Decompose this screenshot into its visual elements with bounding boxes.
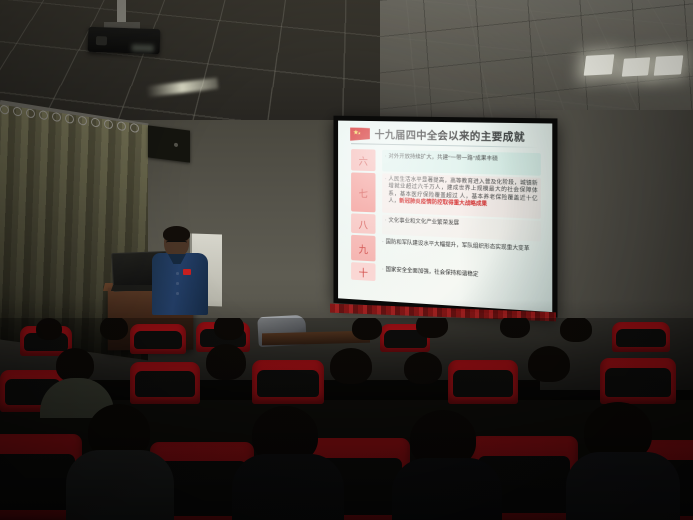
- slide-row: 七 · 人民生活水平显著提高，高等教育进入普及化阶段，城镇新增就业超过六千万人，…: [351, 172, 541, 218]
- curtain-ring: [26, 108, 35, 118]
- bullet-icon: ·: [385, 176, 387, 184]
- row-text: 文化事业和文化产业繁荣发展: [388, 218, 537, 232]
- curtain-ring: [52, 112, 61, 122]
- slide-row: 六 · 对外开放持续扩大，共建“一带一路”成果丰硕: [351, 149, 541, 176]
- seat-sheen: [259, 373, 317, 377]
- row-number-chip: 六: [351, 149, 375, 171]
- audience-head: [214, 318, 244, 340]
- row-text: 人民生活水平显著提高，高等教育进入普及化阶段，城镇新增就业超过六千万人，建成世界…: [388, 176, 537, 211]
- row-number-chip: 八: [351, 213, 375, 234]
- curtain-ring: [117, 121, 126, 131]
- bullet-icon: ·: [382, 267, 384, 275]
- seat: [252, 360, 324, 404]
- seat-sheen: [0, 461, 72, 469]
- audience-head: [528, 346, 570, 382]
- curtain-ring: [78, 116, 87, 126]
- projection-screen-surface: ★ ★ 十九届四中全会以来的主要成就 六 · 对外开放持续扩大，共建“一带一路”…: [338, 121, 552, 313]
- seat: [448, 360, 518, 404]
- bullet-icon: ·: [385, 154, 387, 162]
- audience-head: [500, 318, 530, 338]
- wall-speaker-icon: [148, 125, 190, 162]
- presenter: [152, 228, 208, 314]
- presenter-badge: [183, 269, 191, 275]
- light-panel-3-icon: [654, 55, 684, 75]
- curtain-ring: [130, 123, 139, 133]
- bullet-icon: ·: [382, 239, 384, 247]
- row-body: · 人民生活水平显著提高，高等教育进入普及化阶段，城镇新增就业超过六千万人，建成…: [382, 173, 541, 219]
- seat-sheen: [618, 331, 664, 334]
- projection-screen: ★ ★ 十九届四中全会以来的主要成就 六 · 对外开放持续扩大，共建“一带一路”…: [333, 116, 557, 318]
- projector-icon: [88, 27, 161, 54]
- audience-head: [56, 348, 94, 382]
- row-number-chip: 十: [351, 262, 375, 281]
- row-body: · 对外开放持续扩大，共建“一带一路”成果丰硕: [382, 150, 541, 176]
- curtain-ring: [39, 110, 48, 120]
- row-number-chip: 七: [351, 172, 375, 212]
- seat-sheen: [608, 372, 669, 376]
- curtain-ring: [104, 119, 113, 129]
- shirt-button: [176, 282, 179, 285]
- audience-shoulders: [66, 450, 174, 520]
- audience-shoulders: [392, 458, 502, 520]
- speaker-dot: [174, 143, 178, 147]
- audience-head: [560, 318, 592, 342]
- audience-shoulders: [566, 452, 680, 520]
- seat: [130, 362, 200, 404]
- presenter-hair: [163, 226, 190, 242]
- projector-glow: [132, 44, 154, 52]
- seat-sheen: [137, 375, 193, 379]
- row-number-chip: 九: [351, 235, 375, 262]
- light-panel-1-icon: [584, 54, 615, 75]
- audience-head: [330, 348, 372, 384]
- light-panel-2-icon: [622, 57, 650, 76]
- row-text: 国防和军队建设水平大幅提升，军队组织形态实现重大变革: [386, 239, 541, 254]
- slide-content: ★ ★ 十九届四中全会以来的主要成就 六 · 对外开放持续扩大，共建“一带一路”…: [346, 127, 545, 306]
- seat-sheen: [455, 373, 511, 377]
- audience-head: [206, 344, 246, 380]
- curtain-ring: [0, 105, 9, 115]
- curtain-ring: [13, 106, 22, 116]
- row-text: 对外开放持续扩大，共建“一带一路”成果丰硕: [388, 154, 537, 165]
- audience-head: [416, 318, 448, 338]
- seat: [600, 358, 676, 404]
- seat: [130, 324, 186, 354]
- audience-head: [404, 352, 442, 384]
- slide-rows: 六 · 对外开放持续扩大，共建“一带一路”成果丰硕 七 · 人民生活水平显著提高…: [346, 149, 545, 291]
- audience-head: [100, 318, 128, 340]
- row-text: 国家安全全面加强，社会保持和谐稳定: [386, 267, 541, 283]
- bullet-icon: ·: [385, 218, 387, 226]
- lecture-hall-photo: ★ ★ 十九届四中全会以来的主要成就 六 · 对外开放持续扩大，共建“一带一路”…: [0, 0, 693, 520]
- curtain-ring: [65, 114, 74, 124]
- seated-audience: [0, 318, 693, 520]
- flag-star-small: ★: [358, 132, 361, 136]
- projector-lens: [96, 36, 107, 45]
- audience-shoulders: [232, 454, 344, 520]
- slide-title: 十九届四中全会以来的主要成就: [375, 127, 525, 145]
- audience-head: [36, 318, 62, 340]
- audience-head: [352, 318, 382, 340]
- seat: [612, 322, 670, 352]
- seat-sheen: [136, 333, 181, 336]
- chinese-flag-icon: ★ ★: [350, 127, 370, 141]
- glasses-icon: [166, 241, 187, 247]
- shirt-button: [176, 272, 179, 275]
- shirt-button: [176, 292, 179, 295]
- slide-header: ★ ★ 十九届四中全会以来的主要成就: [346, 127, 545, 145]
- curtain-ring: [91, 117, 100, 127]
